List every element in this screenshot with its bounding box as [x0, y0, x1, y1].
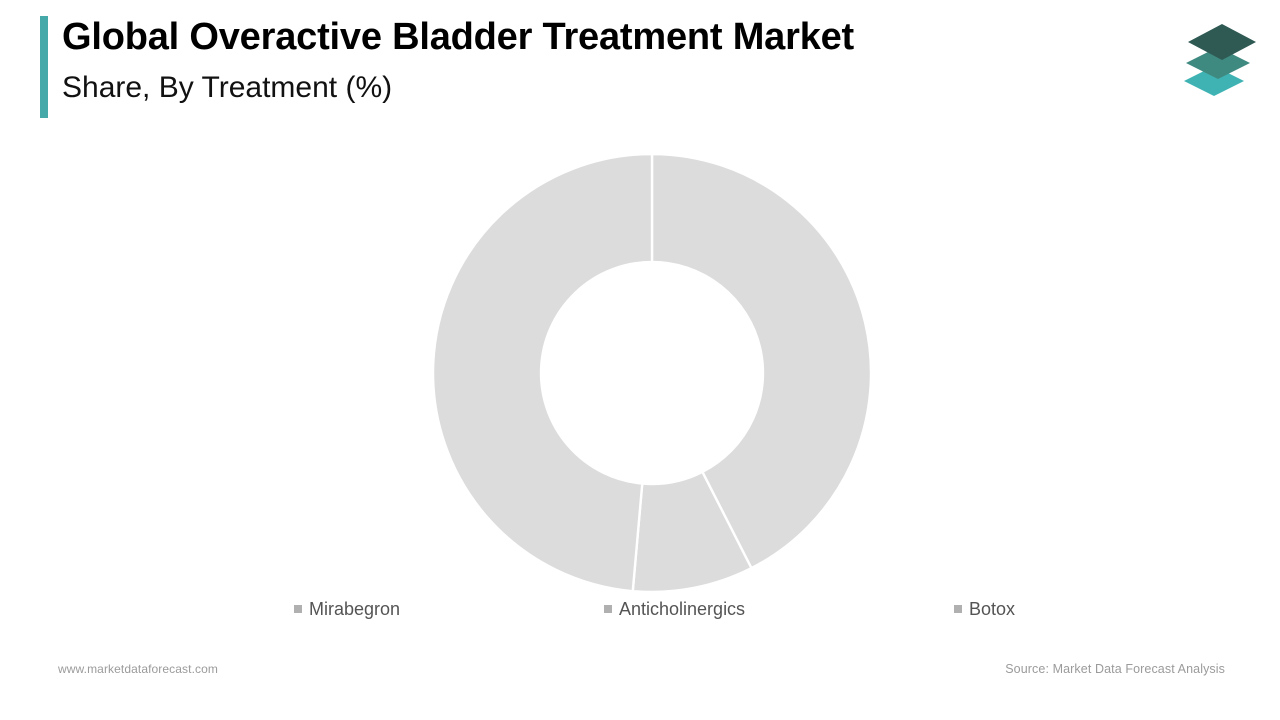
legend-marker-icon: [954, 605, 962, 613]
legend-marker-icon: [604, 605, 612, 613]
footer-website[interactable]: www.marketdataforecast.com: [58, 662, 218, 676]
donut-chart[interactable]: [412, 133, 892, 613]
legend-marker-icon: [294, 605, 302, 613]
legend-item-mirabegron[interactable]: Mirabegron: [294, 596, 400, 622]
legend-label: Anticholinergics: [619, 600, 745, 618]
legend-item-anticholinergics[interactable]: Anticholinergics: [604, 596, 745, 622]
pie-slice-botox[interactable]: [433, 154, 652, 591]
legend-label: Mirabegron: [309, 600, 400, 618]
header: Global Overactive Bladder Treatment Mark…: [40, 16, 1140, 118]
legend-item-botox[interactable]: Botox: [954, 596, 1015, 622]
chart-legend: Mirabegron Anticholinergics Botox: [0, 596, 1280, 622]
stacked-layers-icon: [1176, 20, 1256, 96]
brand-logo: [1176, 20, 1256, 96]
title-block: Global Overactive Bladder Treatment Mark…: [48, 16, 854, 118]
footer-source: Source: Market Data Forecast Analysis: [1005, 662, 1225, 676]
page-subtitle: Share, By Treatment (%): [62, 59, 854, 106]
slide-canvas: Global Overactive Bladder Treatment Mark…: [0, 0, 1280, 720]
page-title: Global Overactive Bladder Treatment Mark…: [62, 16, 854, 59]
legend-label: Botox: [969, 600, 1015, 618]
title-accent-bar: [40, 16, 48, 118]
